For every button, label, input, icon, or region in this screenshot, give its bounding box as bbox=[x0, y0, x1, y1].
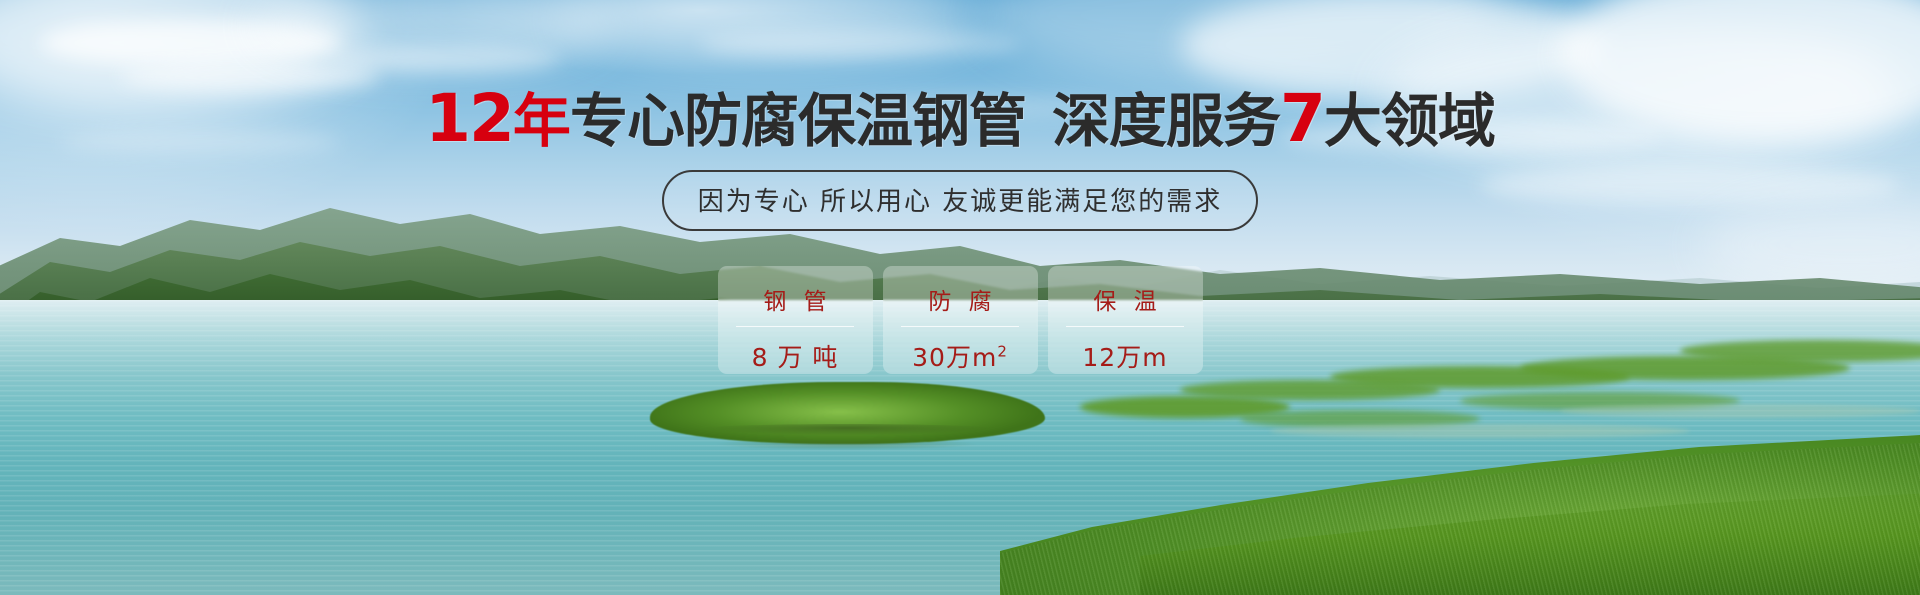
headline-fields-text: 大领域 bbox=[1324, 87, 1495, 155]
stat-divider bbox=[901, 326, 1019, 327]
headline: 12年专心防腐保温钢管深度服务7大领域 bbox=[0, 84, 1920, 153]
stat-value: 30万m2 bbox=[912, 338, 1008, 374]
stat-label: 防 腐 bbox=[923, 282, 996, 326]
tagline-pill: 因为专心 所以用心 友诚更能满足您的需求 bbox=[662, 170, 1259, 231]
tagline-container: 因为专心 所以用心 友诚更能满足您的需求 bbox=[0, 170, 1920, 231]
stat-value-superscript: 2 bbox=[997, 343, 1008, 361]
banner-content: 12年专心防腐保温钢管深度服务7大领域 因为专心 所以用心 友诚更能满足您的需求… bbox=[0, 0, 1920, 595]
stat-value: 8 万 吨 bbox=[752, 338, 839, 374]
headline-fields-number: 7 bbox=[1280, 80, 1324, 157]
stat-card-insulation: 保 温 12万m bbox=[1048, 266, 1203, 374]
stat-value-text: 12万m bbox=[1082, 343, 1167, 372]
stat-divider bbox=[736, 326, 854, 327]
stat-label: 保 温 bbox=[1088, 282, 1161, 326]
headline-years-unit: 年 bbox=[513, 87, 570, 155]
stat-card-anticorrosion: 防 腐 30万m2 bbox=[883, 266, 1038, 374]
headline-years-number: 12 bbox=[425, 80, 513, 157]
stat-value: 12万m bbox=[1082, 338, 1167, 374]
headline-main-text: 专心防腐保温钢管 bbox=[570, 87, 1026, 155]
stat-card-steel-pipe: 钢 管 8 万 吨 bbox=[718, 266, 873, 374]
stat-label: 钢 管 bbox=[758, 282, 831, 326]
stat-value-text: 30万m bbox=[912, 343, 997, 372]
stat-divider bbox=[1066, 326, 1184, 327]
headline-service-text: 深度服务 bbox=[1052, 87, 1280, 155]
stats-card-group: 钢 管 8 万 吨 防 腐 30万m2 保 温 12万m bbox=[0, 266, 1920, 374]
stat-value-text: 8 万 吨 bbox=[752, 343, 839, 372]
promo-banner: 12年专心防腐保温钢管深度服务7大领域 因为专心 所以用心 友诚更能满足您的需求… bbox=[0, 0, 1920, 595]
